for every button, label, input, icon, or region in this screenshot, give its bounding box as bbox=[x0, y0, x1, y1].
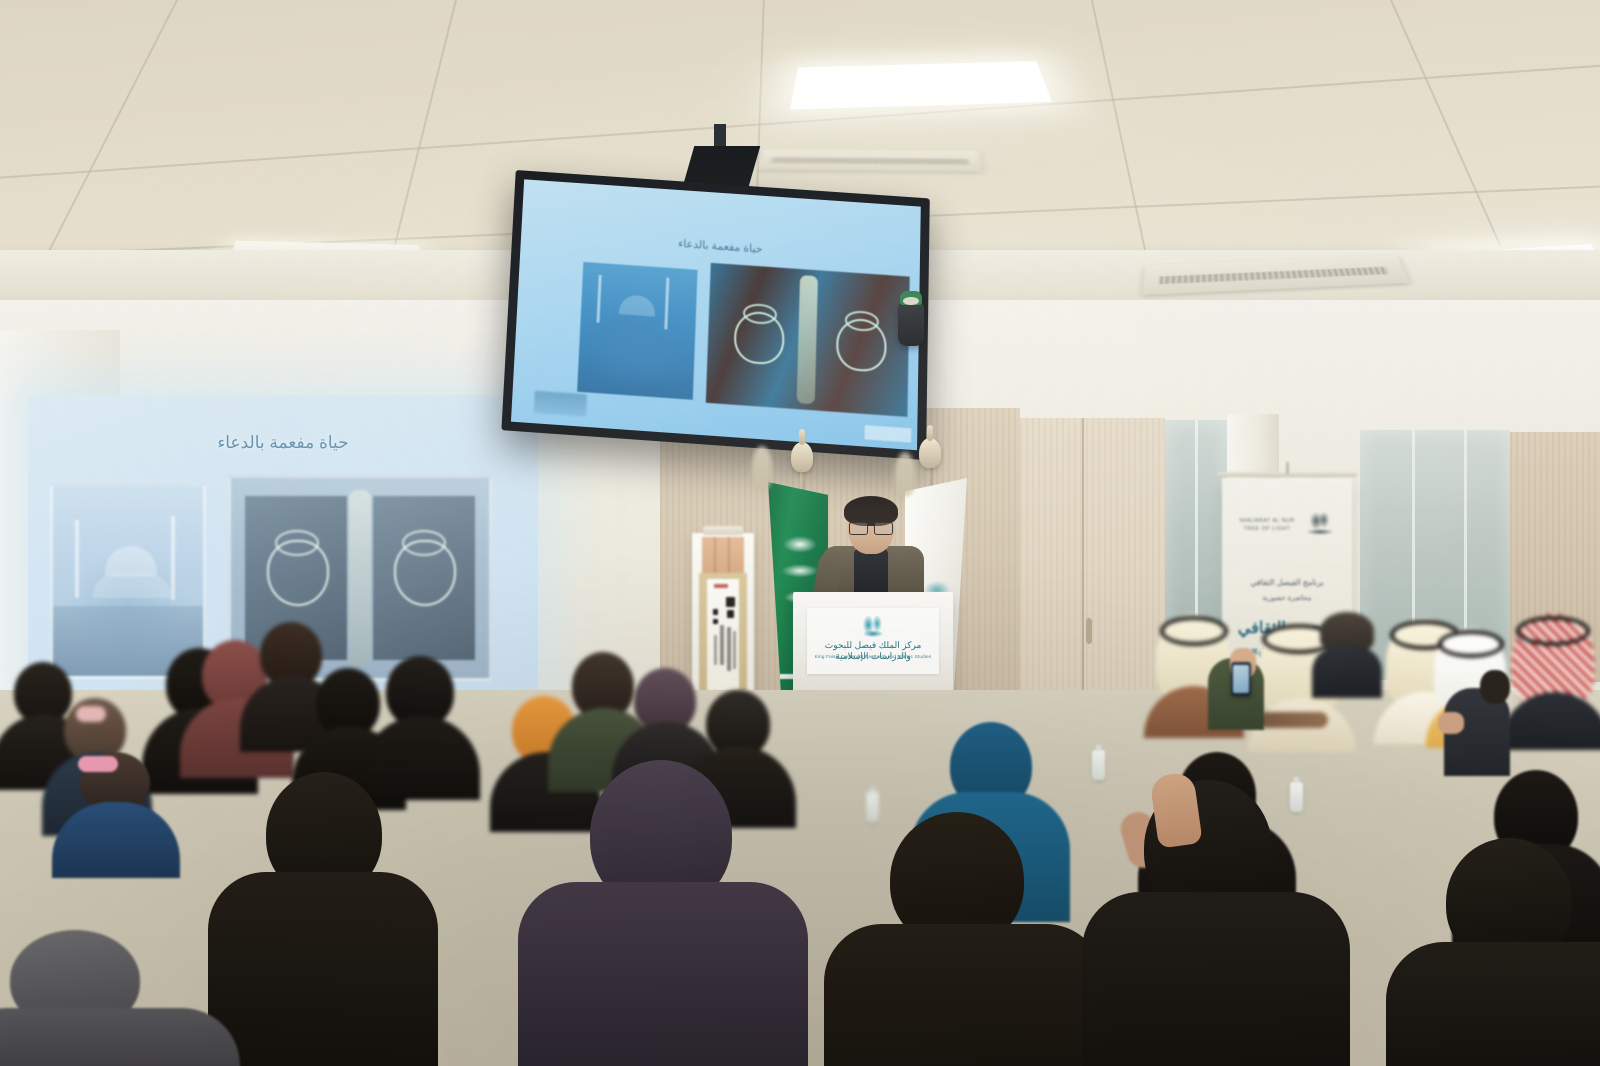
kfcris-emblem-icon bbox=[860, 614, 886, 638]
ceiling-light-panel bbox=[790, 61, 1052, 109]
speaker-glasses bbox=[849, 522, 893, 533]
tv-slide-logo bbox=[534, 391, 587, 417]
banner-subtitle: محاضرة حضورية bbox=[1222, 594, 1352, 602]
water-bottle bbox=[1092, 750, 1105, 780]
camera-icon bbox=[898, 300, 924, 346]
audience-member bbox=[222, 772, 422, 1066]
flag-finial bbox=[791, 442, 813, 472]
audience-member bbox=[56, 752, 174, 870]
tv-slide-page-badge bbox=[864, 425, 911, 443]
speaker-person bbox=[818, 500, 928, 600]
ac-diffuser bbox=[757, 149, 982, 171]
hanging-tv-display: حياة مفعمة بالدعاء bbox=[508, 182, 928, 452]
audience-member bbox=[536, 760, 786, 1066]
audience-member bbox=[1312, 612, 1382, 698]
tv-slide-image-right bbox=[706, 263, 910, 417]
banner-brand-latin: SHAJARAT AL NUR TREE OF LIGHT bbox=[1236, 518, 1298, 534]
flag-finial bbox=[895, 452, 915, 496]
tv-bezel: حياة مفعمة بالدعاء bbox=[501, 170, 929, 460]
banner-hook bbox=[1286, 462, 1289, 474]
wood-panel-wall bbox=[1020, 418, 1165, 700]
scroll-wood-header bbox=[702, 537, 744, 575]
audience-member bbox=[840, 812, 1080, 1066]
podium-logo-plate: مركز الملك فيصل للبحوث والدراسات الإسلام… bbox=[807, 608, 939, 674]
podium-logo-english: King Faisal Center for Research and Isla… bbox=[807, 654, 939, 659]
banner-center-logo bbox=[1304, 510, 1336, 536]
projection-slide-title: حياة مفعمة بالدعاء bbox=[28, 433, 538, 453]
tv-screen: حياة مفعمة بالدعاء bbox=[511, 179, 921, 450]
banner-program: برنامج الفيصل الثقافي bbox=[1222, 578, 1352, 587]
audience-member bbox=[370, 656, 470, 788]
conference-hall-photo: حياة مفعمة بالدعاء حياة مفعمة بالدعاء bbox=[0, 0, 1600, 1066]
audience-member bbox=[0, 930, 220, 1066]
flag-finial bbox=[752, 446, 772, 490]
scroll-rail bbox=[703, 526, 743, 535]
tv-slide-title: حياة مفعمة بالدعاء bbox=[521, 226, 920, 266]
audience-member bbox=[1400, 838, 1600, 1066]
flag-finial bbox=[919, 438, 941, 468]
tv-slide-image-left bbox=[577, 262, 697, 400]
audience-member bbox=[1098, 780, 1328, 1066]
